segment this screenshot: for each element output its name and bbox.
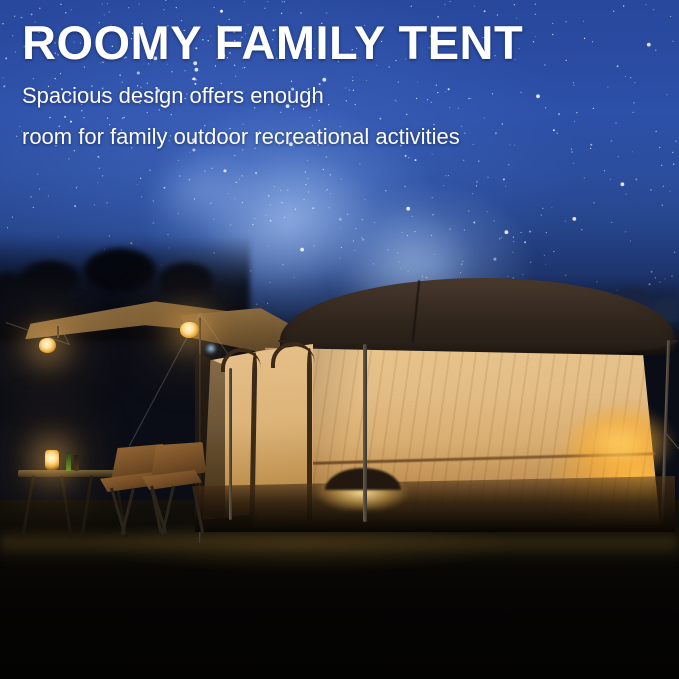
camp-table-leg-2 (60, 476, 73, 538)
table-lantern (45, 450, 59, 470)
hanging-lantern-center (180, 322, 199, 338)
camp-table-leg-1 (21, 476, 35, 538)
camp-chair-right (140, 440, 216, 538)
banner-subtitle-line-1: Spacious design offers enough (22, 83, 324, 109)
tent-door-pole-left (229, 368, 232, 520)
large-family-cabin-tent (215, 278, 679, 538)
camp-chair-right-leg-3 (192, 486, 204, 534)
banner-title: ROOMY FAMILY TENT (22, 18, 523, 68)
camp-table-leg-3 (80, 476, 93, 538)
hanging-lantern-left (39, 338, 56, 353)
camp-chair-right-leg-2 (161, 486, 175, 535)
banner-subtitle-line-2: room for family outdoor recreational act… (22, 124, 460, 150)
camp-chair-left-leg-2 (120, 488, 135, 535)
tent-interior-hotspot (555, 398, 679, 488)
bottle-dark (74, 455, 79, 471)
tent-door-pole-center (363, 344, 367, 522)
canopy-side-pole (57, 326, 59, 338)
product-banner-image: ROOMY FAMILY TENT Spacious design offers… (0, 0, 679, 679)
bottle-green (66, 452, 71, 471)
